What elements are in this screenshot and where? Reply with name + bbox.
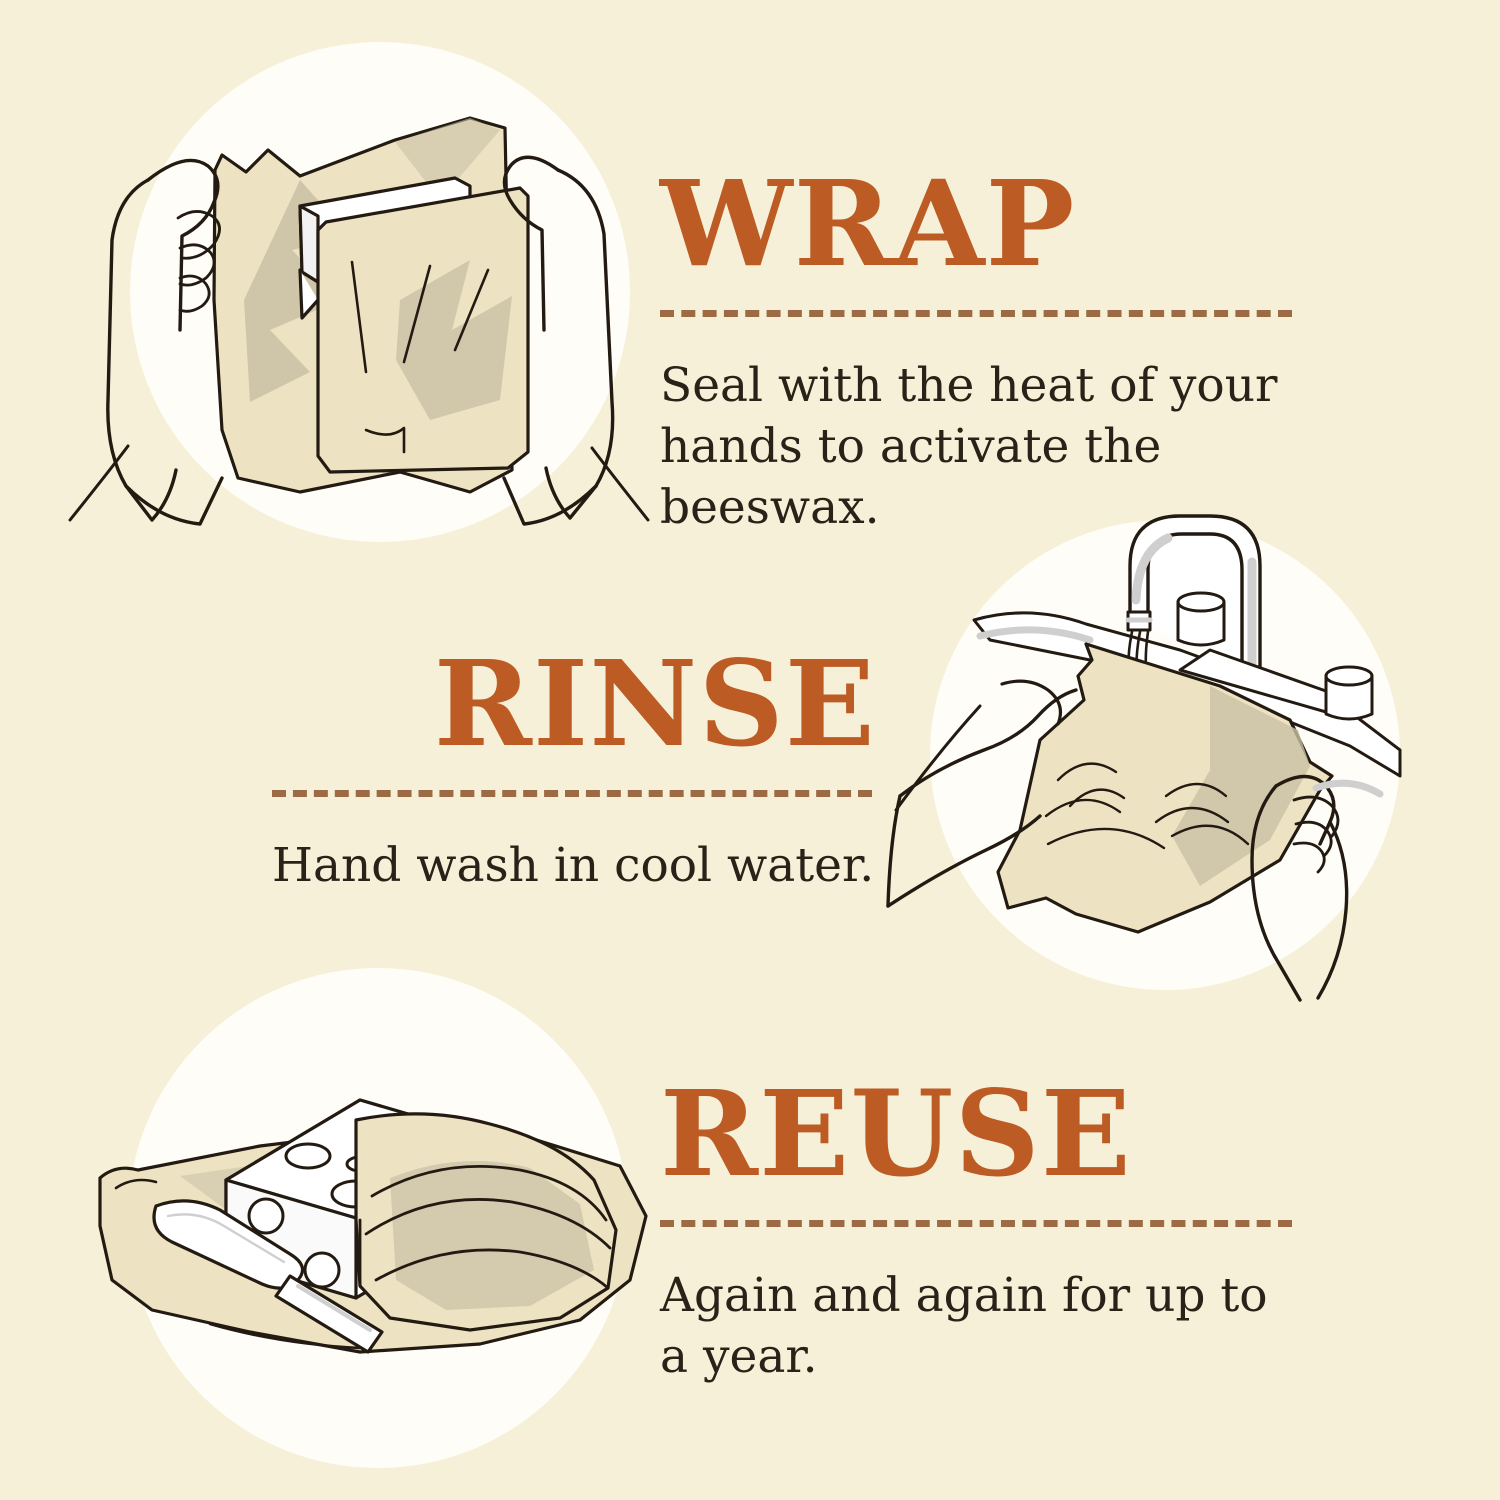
reuse-divider [660, 1220, 1292, 1227]
reuse-body-text: Again and again for up to a year. [660, 1265, 1300, 1387]
wrap-text-block: WRAP Seal with the heat of your hands to… [660, 168, 1300, 538]
rinse-body-text: Hand wash in cool water. [272, 835, 876, 896]
infographic-canvas: WRAP Seal with the heat of your hands to… [0, 0, 1500, 1500]
rinse-divider [272, 790, 872, 797]
reuse-heading: REUSE [660, 1078, 1300, 1190]
wrapped-cheese-with-knife-illustration [60, 980, 680, 1450]
rinse-heading: RINSE [272, 648, 876, 760]
hands-rinsing-wrap-under-faucet-illustration [880, 500, 1440, 1020]
hands-wrapping-cheese-illustration [0, 0, 700, 560]
reuse-text-block: REUSE Again and again for up to a year. [660, 1078, 1300, 1387]
wrap-heading: WRAP [660, 168, 1300, 280]
rinse-text-block: RINSE Hand wash in cool water. [272, 648, 876, 896]
wrap-divider [660, 310, 1292, 317]
